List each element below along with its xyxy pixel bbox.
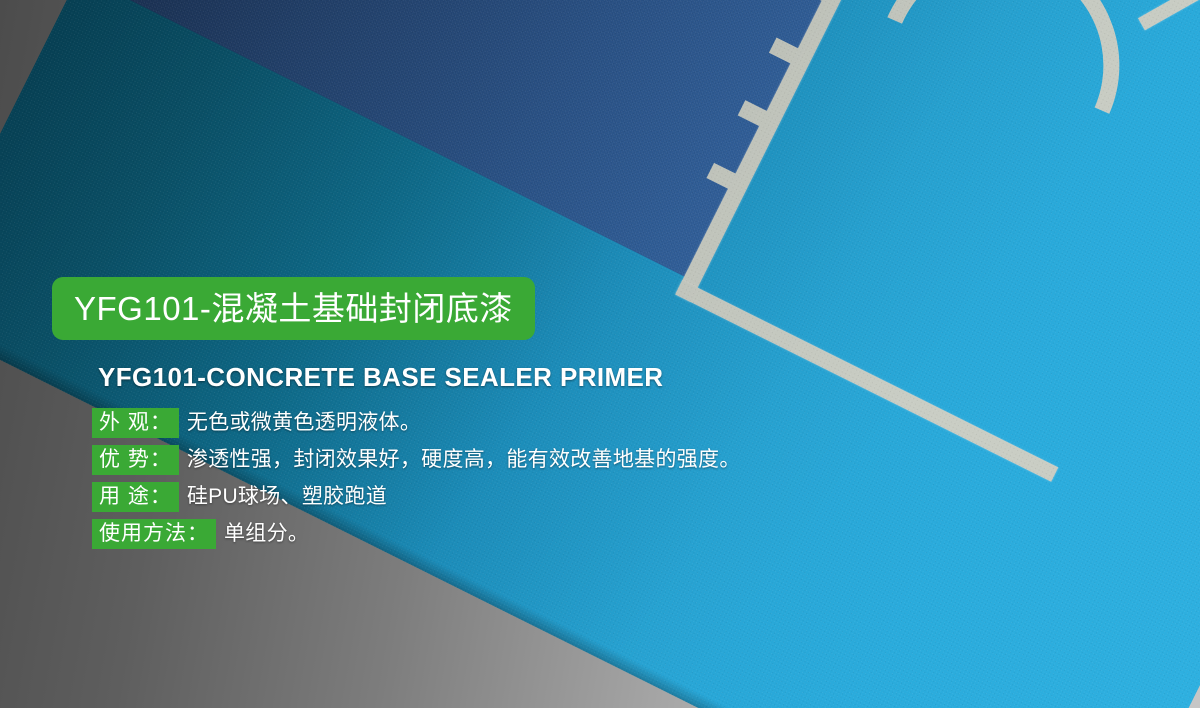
spec-label-usage: 用 途： [92,482,179,512]
product-title-cn: YFG101-混凝土基础封闭底漆 [74,292,513,325]
spec-label-appearance: 外 观： [92,408,179,438]
product-title-banner: YFG101-混凝土基础封闭底漆 [52,277,535,340]
poster-content: YFG101-混凝土基础封闭底漆 YFG101-CONCRETE BASE SE… [0,0,1200,708]
spec-row-advantage: 优 势： 渗透性强，封闭效果好，硬度高，能有效改善地基的强度。 [92,445,741,475]
spec-row-usage: 用 途： 硅PU球场、塑胶跑道 [92,482,741,512]
spec-label-advantage: 优 势： [92,445,179,475]
product-poster: YFG101-混凝土基础封闭底漆 YFG101-CONCRETE BASE SE… [0,0,1200,708]
product-title-en: YFG101-CONCRETE BASE SEALER PRIMER [98,362,663,393]
spec-value-usage: 硅PU球场、塑胶跑道 [187,482,387,512]
spec-value-method: 单组分。 [224,519,309,549]
spec-label-method: 使用方法： [92,519,216,549]
spec-row-method: 使用方法： 单组分。 [92,519,741,549]
spec-value-appearance: 无色或微黄色透明液体。 [187,408,421,438]
spec-value-advantage: 渗透性强，封闭效果好，硬度高，能有效改善地基的强度。 [187,445,741,475]
spec-list: 外 观： 无色或微黄色透明液体。 优 势： 渗透性强，封闭效果好，硬度高，能有效… [92,408,741,556]
spec-row-appearance: 外 观： 无色或微黄色透明液体。 [92,408,741,438]
